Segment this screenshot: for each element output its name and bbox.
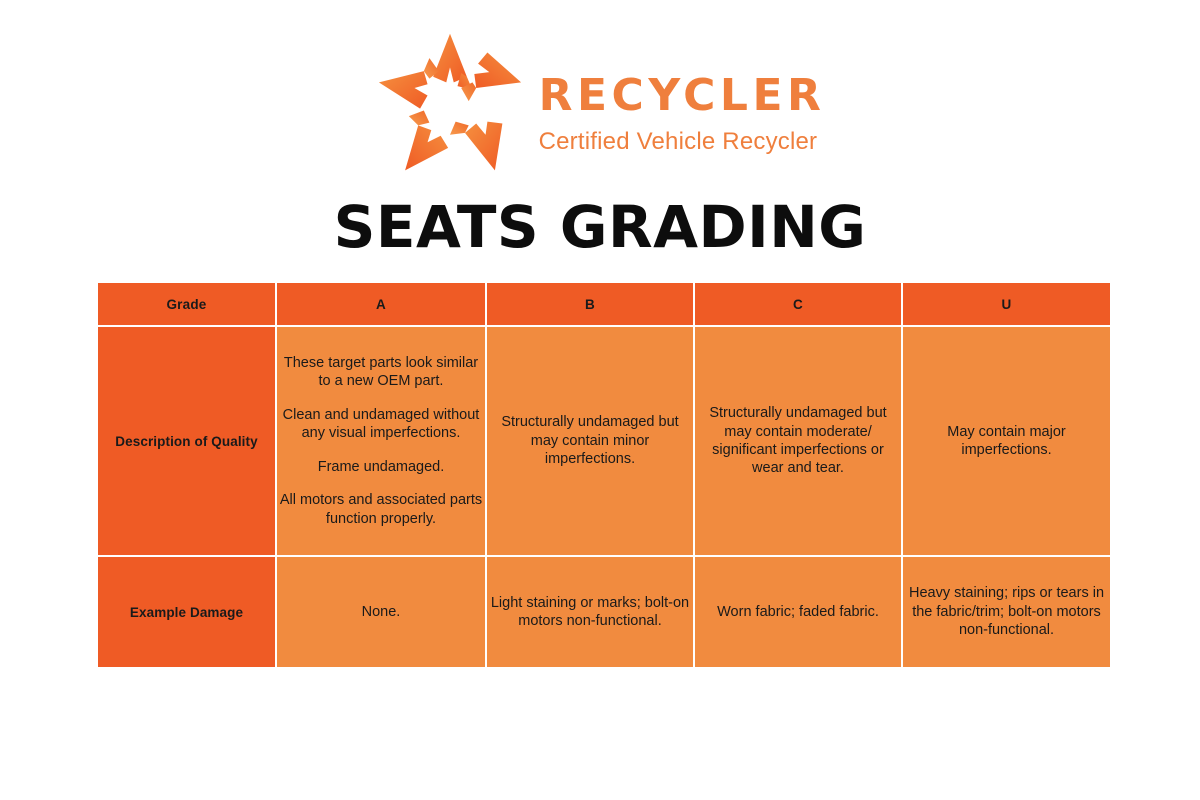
column-header-b: B: [487, 283, 693, 325]
cell-paragraph: Structurally undamaged but may contain m…: [487, 413, 693, 468]
cell-damage-c: Worn fabric; faded fabric.: [695, 557, 901, 667]
cell-description-u: May contain major imperfections.: [903, 327, 1110, 555]
table-row: Description of Quality These target part…: [98, 327, 1110, 555]
cell-paragraph: Heavy staining; rips or tears in the fab…: [903, 584, 1110, 639]
grading-table-container: Grade A B C U Description of Quality The…: [96, 281, 1104, 669]
grading-table: Grade A B C U Description of Quality The…: [96, 281, 1112, 669]
logo-inner: RECYCLER Certified Vehicle Recycler: [375, 30, 826, 175]
column-header-a: A: [277, 283, 485, 325]
cell-paragraph: Clean and undamaged without any visual i…: [277, 406, 485, 443]
cell-paragraph: May contain major imperfections.: [903, 423, 1110, 460]
cell-paragraph: Light staining or marks; bolt-on motors …: [487, 594, 693, 631]
cell-damage-a: None.: [277, 557, 485, 667]
table-header-row: Grade A B C U: [98, 283, 1110, 325]
cell-description-b: Structurally undamaged but may contain m…: [487, 327, 693, 555]
logo-wordmark: RECYCLER Certified Vehicle Recycler: [539, 52, 826, 154]
column-header-u: U: [903, 283, 1110, 325]
row-label-description-of-quality: Description of Quality: [98, 327, 275, 555]
cell-paragraph: Worn fabric; faded fabric.: [695, 603, 901, 621]
brand-logo: RECYCLER Certified Vehicle Recycler: [0, 0, 1200, 175]
cell-description-a: These target parts look similar to a new…: [277, 327, 485, 555]
cell-paragraph: Frame undamaged.: [277, 458, 485, 476]
recycling-star-icon: [375, 30, 525, 175]
page-title: SEATS GRADING: [0, 197, 1200, 258]
cell-damage-b: Light staining or marks; bolt-on motors …: [487, 557, 693, 667]
row-label-example-damage: Example Damage: [98, 557, 275, 667]
column-header-c: C: [695, 283, 901, 325]
cell-paragraph: All motors and associated parts function…: [277, 491, 485, 528]
cell-paragraph: Structurally undamaged but may contain m…: [695, 404, 901, 478]
brand-name: RECYCLER: [539, 74, 826, 118]
cell-paragraph: None.: [277, 603, 485, 621]
cell-damage-u: Heavy staining; rips or tears in the fab…: [903, 557, 1110, 667]
cell-paragraph: These target parts look similar to a new…: [277, 354, 485, 391]
brand-tagline: Certified Vehicle Recycler: [539, 130, 826, 154]
column-header-grade: Grade: [98, 283, 275, 325]
table-row: Example Damage None. Light staining or m…: [98, 557, 1110, 667]
cell-description-c: Structurally undamaged but may contain m…: [695, 327, 901, 555]
